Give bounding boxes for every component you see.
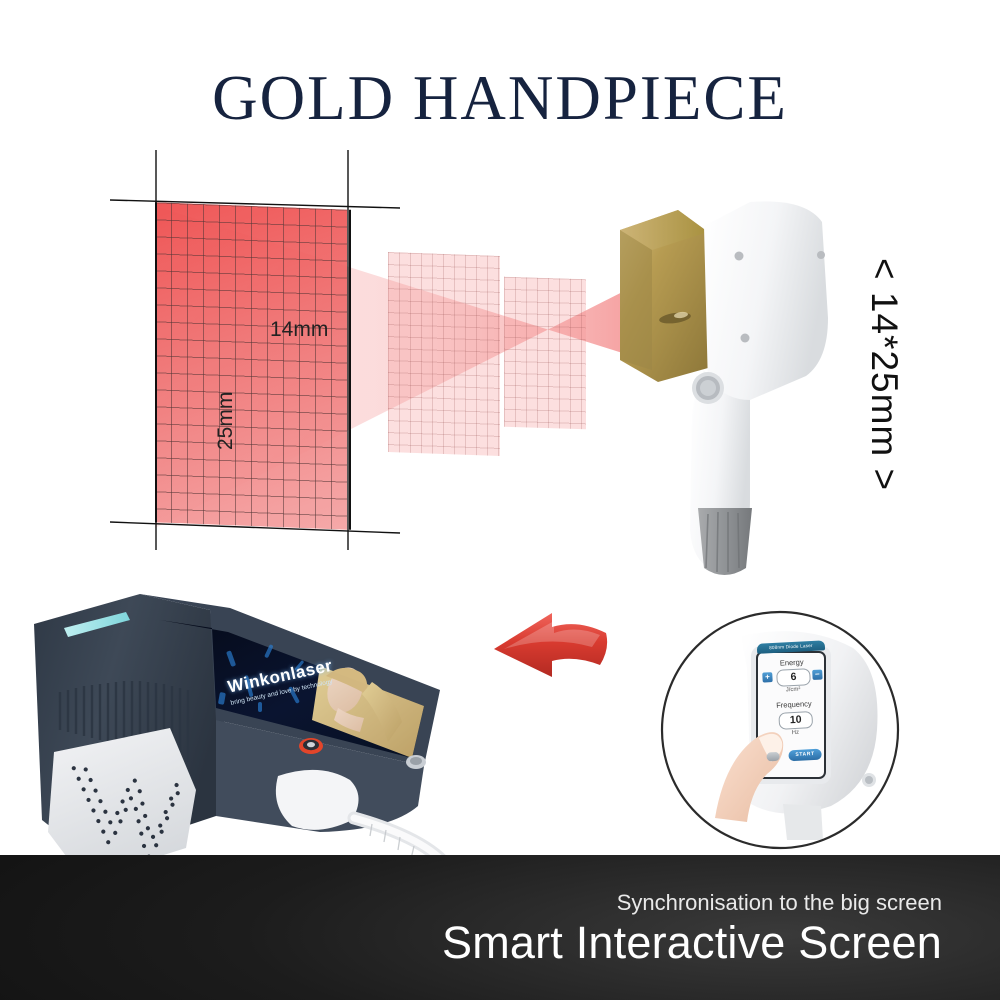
frequency-label: Frequency: [758, 698, 830, 711]
frequency-value[interactable]: 10: [778, 711, 813, 730]
height-dimension-label: 25mm: [214, 392, 238, 450]
device-header-banner: 808nm Diode Laser: [757, 640, 825, 654]
banner-title: Smart Interactive Screen: [442, 917, 942, 969]
frequency-unit: Hz: [759, 728, 831, 738]
energy-label: Energy: [756, 656, 828, 669]
red-curved-arrow: [480, 605, 610, 700]
product-marketing-image: GOLD HANDPIECE: [0, 0, 1000, 1000]
energy-decrease-button[interactable]: −: [812, 669, 823, 680]
bottom-banner: Synchronisation to the big screen Smart …: [0, 855, 1000, 1000]
energy-unit: J/cm²: [757, 685, 829, 695]
energy-value[interactable]: 6: [776, 668, 811, 687]
mode-toggle[interactable]: [766, 752, 779, 762]
spot-size-label: < 14*25mm >: [863, 258, 905, 491]
start-button[interactable]: START: [788, 749, 822, 762]
width-dimension-label: 14mm: [270, 318, 328, 342]
page-title: GOLD HANDPIECE: [0, 62, 1000, 135]
energy-increase-button[interactable]: +: [762, 672, 773, 683]
handheld-screen-ui: 808nm Diode Laser Energy + 6 − J/cm² Fre…: [755, 640, 834, 772]
banner-subtitle: Synchronisation to the big screen: [617, 890, 942, 916]
